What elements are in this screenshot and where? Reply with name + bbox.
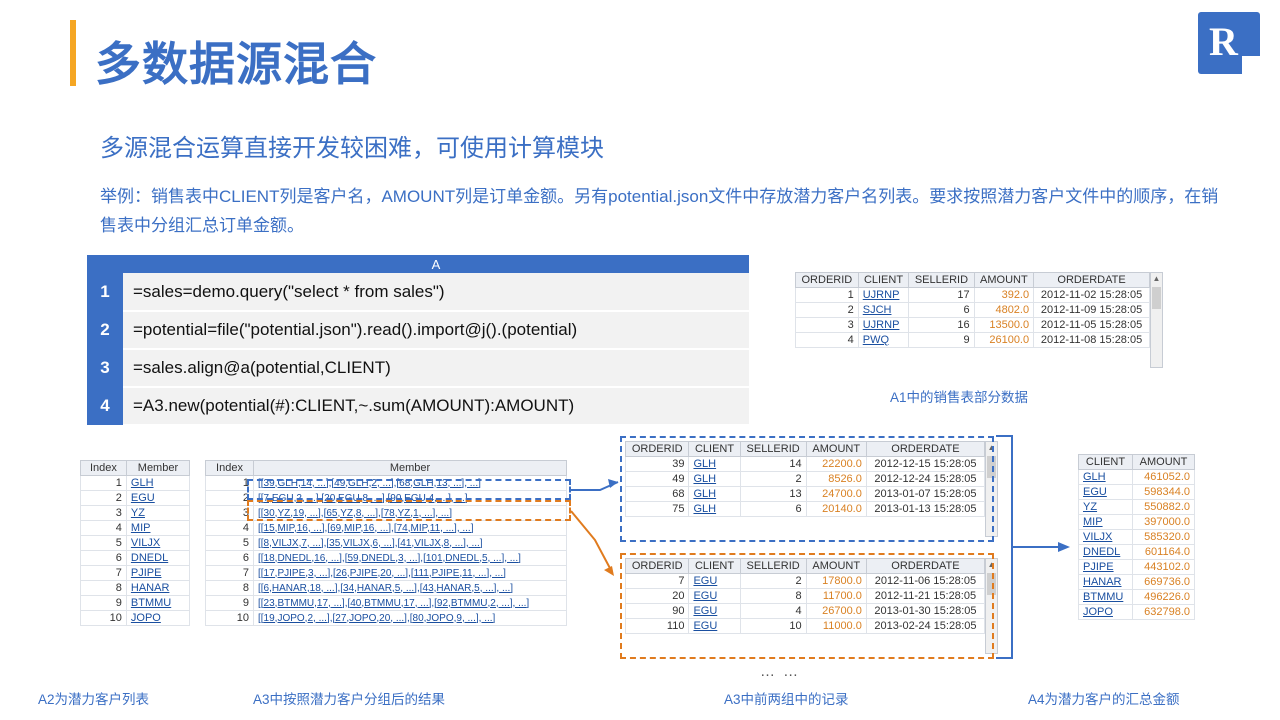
- cell-sellerid: 17: [909, 288, 974, 303]
- code-cell[interactable]: =sales=demo.query("select * from sales"): [123, 273, 749, 311]
- cell-member: EGU: [126, 491, 189, 506]
- scroll-up-arrow[interactable]: ▲: [1151, 273, 1162, 284]
- col-orderdate: ORDERDATE: [1034, 273, 1150, 288]
- cell-member: YZ: [126, 506, 189, 521]
- code-row[interactable]: 4 =A3.new(potential(#):CLIENT,~.sum(AMOU…: [87, 387, 749, 425]
- code-cell[interactable]: =potential=file("potential.json").read()…: [123, 311, 749, 349]
- col-orderid: ORDERID: [796, 273, 859, 288]
- table-row[interactable]: 5VILJX: [81, 536, 190, 551]
- table-header-row: CLIENT AMOUNT: [1079, 455, 1195, 470]
- cell-index: 9: [206, 596, 254, 611]
- cell-index: 6: [206, 551, 254, 566]
- code-grid-corner: [87, 255, 123, 273]
- cell-client: BTMMU: [1079, 590, 1133, 605]
- cell-member: GLH: [126, 476, 189, 491]
- cell-member: [[15,MIP,16, ...],[69,MIP,16, ...],[74,M…: [254, 521, 567, 536]
- cell-client: HANAR: [1079, 575, 1133, 590]
- code-row-index: 1: [87, 273, 123, 311]
- cell-index: 7: [206, 566, 254, 581]
- scroll-thumb[interactable]: [1152, 287, 1161, 309]
- cell-amount: 632798.0: [1132, 605, 1194, 620]
- page-title: 多数据源混合: [95, 28, 377, 94]
- cell-index: 6: [81, 551, 127, 566]
- arrow-group1: [571, 482, 618, 490]
- caption-a2: A2为潜力客户列表: [38, 688, 149, 708]
- code-cell[interactable]: =sales.align@a(potential,CLIENT): [123, 349, 749, 387]
- cell-amount: 392.0: [974, 288, 1034, 303]
- logo-notch: [1242, 56, 1260, 74]
- table-row[interactable]: 10[[19,JOPO,2, ...],[27,JOPO,20, ...],[8…: [206, 611, 567, 626]
- table-row[interactable]: 6[[18,DNEDL,16, ...],[59,DNEDL,3, ...],[…: [206, 551, 567, 566]
- col-sellerid: SELLERID: [909, 273, 974, 288]
- cell-client: EGU: [1079, 485, 1133, 500]
- sales-sample-table: ORDERID CLIENT SELLERID AMOUNT ORDERDATE…: [795, 272, 1150, 348]
- sales-sample-panel: ORDERID CLIENT SELLERID AMOUNT ORDERDATE…: [795, 272, 1165, 348]
- cell-orderdate: 2012-11-05 15:28:05: [1034, 318, 1150, 333]
- cell-orderid: 3: [796, 318, 859, 333]
- brand-logo: R: [1198, 12, 1260, 74]
- cell-client: UJRNP: [858, 288, 909, 303]
- cell-index: 5: [206, 536, 254, 551]
- cell-index: 5: [81, 536, 127, 551]
- cell-orderid: 4: [796, 333, 859, 348]
- cell-client: DNEDL: [1079, 545, 1133, 560]
- col-amount: AMOUNT: [1132, 455, 1194, 470]
- cell-client: UJRNP: [858, 318, 909, 333]
- col-amount: AMOUNT: [974, 273, 1034, 288]
- code-grid-column-header: A: [123, 255, 749, 273]
- cell-index: 2: [81, 491, 127, 506]
- code-row-index: 3: [87, 349, 123, 387]
- caption-sales-sample: A1中的销售表部分数据: [890, 386, 1028, 406]
- table-row[interactable]: MIP397000.0: [1079, 515, 1195, 530]
- cell-member: JOPO: [126, 611, 189, 626]
- col-client: CLIENT: [858, 273, 909, 288]
- title-accent-bar: [70, 20, 76, 86]
- a4-table: CLIENT AMOUNT GLH461052.0 EGU598344.0 YZ…: [1078, 454, 1195, 620]
- cell-member: PJIPE: [126, 566, 189, 581]
- table-row[interactable]: GLH461052.0: [1079, 470, 1195, 485]
- highlight-group1-detail: [620, 436, 994, 542]
- arrow-group2-head: [604, 566, 614, 576]
- code-row-index: 2: [87, 311, 123, 349]
- col-member: Member: [254, 461, 567, 476]
- cell-client: SJCH: [858, 303, 909, 318]
- cell-amount: 443102.0: [1132, 560, 1194, 575]
- arrow-to-a4-head: [1058, 542, 1070, 552]
- table-header-row: ORDERID CLIENT SELLERID AMOUNT ORDERDATE: [796, 273, 1150, 288]
- cell-amount: 461052.0: [1132, 470, 1194, 485]
- table-row[interactable]: 3YZ: [81, 506, 190, 521]
- cell-orderdate: 2012-11-08 15:28:05: [1034, 333, 1150, 348]
- table-row[interactable]: 1 UJRNP 17 392.0 2012-11-02 15:28:05: [796, 288, 1150, 303]
- cell-index: 8: [206, 581, 254, 596]
- cell-amount: 4802.0: [974, 303, 1034, 318]
- table-row[interactable]: 9BTMMU: [81, 596, 190, 611]
- code-row[interactable]: 1 =sales=demo.query("select * from sales…: [87, 273, 749, 311]
- cell-index: 4: [81, 521, 127, 536]
- cell-sellerid: 6: [909, 303, 974, 318]
- highlight-group2-detail: [620, 553, 994, 659]
- table-row[interactable]: 7[[17,PJIPE,3, ...],[26,PJIPE,20, ...],[…: [206, 566, 567, 581]
- cell-member: BTMMU: [126, 596, 189, 611]
- table-row[interactable]: 4 PWQ 9 26100.0 2012-11-08 15:28:05: [796, 333, 1150, 348]
- cell-amount: 669736.0: [1132, 575, 1194, 590]
- table-row[interactable]: 1GLH: [81, 476, 190, 491]
- table-row[interactable]: 6DNEDL: [81, 551, 190, 566]
- table-row[interactable]: PJIPE443102.0: [1079, 560, 1195, 575]
- cell-member: [[17,PJIPE,3, ...],[26,PJIPE,20, ...],[1…: [254, 566, 567, 581]
- a2-table: Index Member 1GLH 2EGU 3YZ 4MIP 5VILJX 6…: [80, 460, 190, 626]
- cell-amount: 585320.0: [1132, 530, 1194, 545]
- cell-index: 4: [206, 521, 254, 536]
- cell-client: PJIPE: [1079, 560, 1133, 575]
- table-row[interactable]: JOPO632798.0: [1079, 605, 1195, 620]
- cell-client: VILJX: [1079, 530, 1133, 545]
- cell-sellerid: 16: [909, 318, 974, 333]
- col-client: CLIENT: [1079, 455, 1133, 470]
- cell-client: JOPO: [1079, 605, 1133, 620]
- cell-index: 7: [81, 566, 127, 581]
- cell-index: 9: [81, 596, 127, 611]
- caption-a3: A3中按照潜力客户分组后的结果: [253, 688, 445, 708]
- table-header-row: Index Member: [81, 461, 190, 476]
- ellipsis-label: … …: [760, 663, 800, 680]
- table-row[interactable]: YZ550882.0: [1079, 500, 1195, 515]
- cell-client: PWQ: [858, 333, 909, 348]
- code-row[interactable]: 3 =sales.align@a(potential,CLIENT): [87, 349, 749, 387]
- table-row[interactable]: 4MIP: [81, 521, 190, 536]
- cell-amount: 13500.0: [974, 318, 1034, 333]
- vertical-scrollbar[interactable]: ▲: [1150, 272, 1163, 368]
- cell-member: [[19,JOPO,2, ...],[27,JOPO,20, ...],[80,…: [254, 611, 567, 626]
- slide-subtitle: 多源混合运算直接开发较困难，可使用计算模块: [100, 128, 604, 163]
- table-row[interactable]: 3 UJRNP 16 13500.0 2012-11-05 15:28:05: [796, 318, 1150, 333]
- code-cell[interactable]: =A3.new(potential(#):CLIENT,~.sum(AMOUNT…: [123, 387, 749, 425]
- cell-index: 8: [81, 581, 127, 596]
- table-row[interactable]: BTMMU496226.0: [1079, 590, 1195, 605]
- table-row[interactable]: 8[[6,HANAR,18, ...],[34,HANAR,5, ...],[4…: [206, 581, 567, 596]
- col-member: Member: [126, 461, 189, 476]
- cell-member: [[23,BTMMU,17, ...],[40,BTMMU,17, ...],[…: [254, 596, 567, 611]
- col-index: Index: [206, 461, 254, 476]
- table-row[interactable]: 2 SJCH 6 4802.0 2012-11-09 15:28:05: [796, 303, 1150, 318]
- slide-description: 举例：销售表中CLIENT列是客户名，AMOUNT列是订单金额。另有potent…: [100, 182, 1230, 240]
- cell-index: 10: [206, 611, 254, 626]
- table-row[interactable]: EGU598344.0: [1079, 485, 1195, 500]
- table-row[interactable]: HANAR669736.0: [1079, 575, 1195, 590]
- cell-member: MIP: [126, 521, 189, 536]
- cell-amount: 598344.0: [1132, 485, 1194, 500]
- code-grid: A 1 =sales=demo.query("select * from sal…: [87, 255, 749, 426]
- cell-sellerid: 9: [909, 333, 974, 348]
- cell-index: 1: [81, 476, 127, 491]
- caption-a4: A4为潜力客户的汇总金额: [1028, 688, 1180, 708]
- table-row[interactable]: 5[[8,VILJX,7, ...],[35,VILJX,6, ...],[41…: [206, 536, 567, 551]
- table-row[interactable]: 7PJIPE: [81, 566, 190, 581]
- cell-amount: 550882.0: [1132, 500, 1194, 515]
- cell-member: DNEDL: [126, 551, 189, 566]
- table-header-row: Index Member: [206, 461, 567, 476]
- highlight-group2-source: [247, 500, 571, 521]
- highlight-group1-source: [247, 479, 571, 500]
- cell-amount: 601164.0: [1132, 545, 1194, 560]
- bracket-groups: [996, 436, 1012, 658]
- table-row[interactable]: 8HANAR: [81, 581, 190, 596]
- cell-amount: 397000.0: [1132, 515, 1194, 530]
- cell-orderdate: 2012-11-09 15:28:05: [1034, 303, 1150, 318]
- cell-member: VILJX: [126, 536, 189, 551]
- cell-amount: 496226.0: [1132, 590, 1194, 605]
- cell-member: [[6,HANAR,18, ...],[34,HANAR,5, ...],[43…: [254, 581, 567, 596]
- cell-index: 10: [81, 611, 127, 626]
- a4-panel: CLIENT AMOUNT GLH461052.0 EGU598344.0 YZ…: [1078, 454, 1195, 620]
- cell-member: [[8,VILJX,7, ...],[35,VILJX,6, ...],[41,…: [254, 536, 567, 551]
- cell-amount: 26100.0: [974, 333, 1034, 348]
- table-row[interactable]: VILJX585320.0: [1079, 530, 1195, 545]
- code-grid-header-row: A: [87, 255, 749, 273]
- table-row[interactable]: 2EGU: [81, 491, 190, 506]
- a2-panel: Index Member 1GLH 2EGU 3YZ 4MIP 5VILJX 6…: [80, 460, 190, 626]
- arrow-group1-head: [608, 479, 618, 488]
- table-row[interactable]: 4[[15,MIP,16, ...],[69,MIP,16, ...],[74,…: [206, 521, 567, 536]
- cell-client: MIP: [1079, 515, 1133, 530]
- table-row[interactable]: 10JOPO: [81, 611, 190, 626]
- table-row[interactable]: DNEDL601164.0: [1079, 545, 1195, 560]
- arrow-group2: [571, 511, 612, 572]
- cell-orderid: 1: [796, 288, 859, 303]
- code-row-index: 4: [87, 387, 123, 425]
- cell-orderdate: 2012-11-02 15:28:05: [1034, 288, 1150, 303]
- cell-client: YZ: [1079, 500, 1133, 515]
- table-row[interactable]: 9[[23,BTMMU,17, ...],[40,BTMMU,17, ...],…: [206, 596, 567, 611]
- col-index: Index: [81, 461, 127, 476]
- cell-orderid: 2: [796, 303, 859, 318]
- cell-client: GLH: [1079, 470, 1133, 485]
- code-row[interactable]: 2 =potential=file("potential.json").read…: [87, 311, 749, 349]
- caption-a3-first-two: A3中前两组中的记录: [724, 688, 849, 708]
- cell-index: 3: [81, 506, 127, 521]
- cell-member: [[18,DNEDL,16, ...],[59,DNEDL,3, ...],[1…: [254, 551, 567, 566]
- cell-member: HANAR: [126, 581, 189, 596]
